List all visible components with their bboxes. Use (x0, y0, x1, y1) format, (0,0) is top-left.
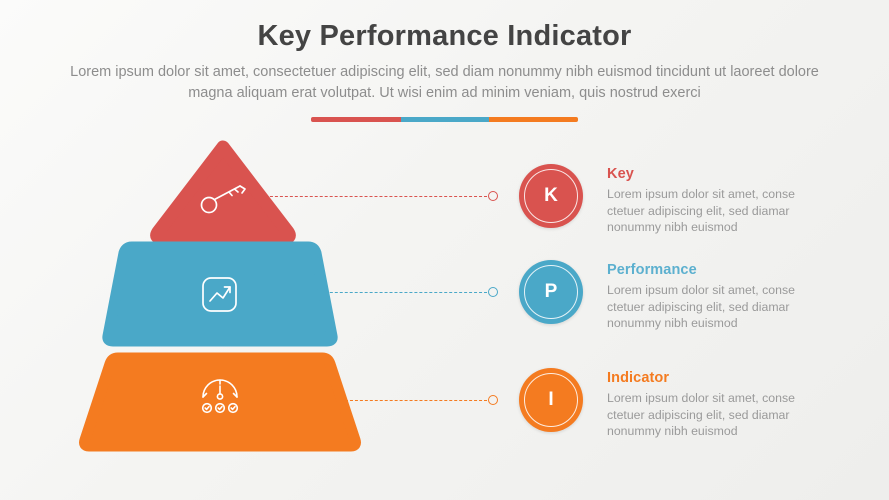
infographic-canvas: Key Performance Indicator Lorem ipsum do… (0, 0, 889, 500)
divider-segment-orange (489, 117, 578, 122)
body-indicator: Lorem ipsum dolor sit amet, conse ctetue… (607, 390, 817, 440)
content-block-key: Key Lorem ipsum dolor sit amet, conse ct… (607, 166, 817, 236)
connector-line-indicator (345, 400, 487, 401)
badge-key-letter: K (544, 185, 558, 207)
body-key: Lorem ipsum dolor sit amet, conse ctetue… (607, 186, 817, 236)
connector-dash-indicator (345, 400, 487, 401)
content-block-indicator: Indicator Lorem ipsum dolor sit amet, co… (607, 370, 817, 440)
body-performance: Lorem ipsum dolor sit amet, conse ctetue… (607, 282, 817, 332)
pyramid-level-key (157, 147, 290, 238)
badge-performance[interactable]: P (519, 260, 583, 324)
connector-dash-performance (300, 292, 487, 293)
heading-key: Key (607, 166, 817, 182)
pyramid-diagram (0, 0, 460, 500)
connector-endpoint-indicator (488, 395, 498, 405)
badge-key[interactable]: K (519, 164, 583, 228)
connector-line-performance (300, 292, 487, 293)
heading-indicator: Indicator (607, 370, 817, 386)
badge-indicator[interactable]: I (519, 368, 583, 432)
connector-line-key (255, 196, 487, 197)
badge-indicator-letter: I (548, 389, 553, 411)
badge-performance-letter: P (545, 281, 558, 303)
heading-performance: Performance (607, 262, 817, 278)
content-block-performance: Performance Lorem ipsum dolor sit amet, … (607, 262, 817, 332)
connector-endpoint-performance (488, 287, 498, 297)
connector-dash-key (255, 196, 487, 197)
pyramid-level-indicator (85, 358, 356, 446)
connector-endpoint-key (488, 191, 498, 201)
pyramid-level-performance (108, 247, 332, 341)
